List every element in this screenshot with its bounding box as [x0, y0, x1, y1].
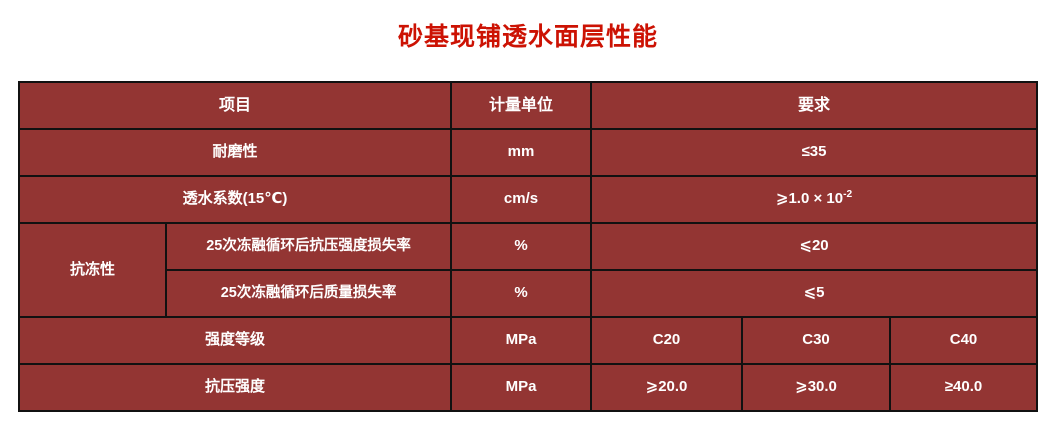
- table-row: 25次冻融循环后质量损失率 % ⩽5: [19, 270, 1037, 317]
- cell-compressive-strength-c40: ≥40.0: [890, 364, 1037, 411]
- table-row: 强度等级 MPa C20 C30 C40: [19, 317, 1037, 364]
- cell-requirement-frost-mass-loss: ⩽5: [591, 270, 1037, 317]
- page-root: 砂基现铺透水面层性能 项目 计量单位 要求 耐磨性: [0, 0, 1056, 435]
- table-header-row: 项目 计量单位 要求: [19, 82, 1037, 129]
- page-title: 砂基现铺透水面层性能: [0, 22, 1056, 52]
- header-cell-item: 项目: [19, 82, 451, 129]
- cell-requirement-frost-strength-loss: ⩽20: [591, 223, 1037, 270]
- cell-item-wear-resistance: 耐磨性: [19, 129, 451, 176]
- performance-table-container: 项目 计量单位 要求 耐磨性 mm ≤35 透水系数(15℃) cm/s ⩾1.…: [18, 81, 1036, 412]
- table-row: 抗压强度 MPa ⩾20.0 ⩾30.0 ≥40.0: [19, 364, 1037, 411]
- cell-strength-grade-c20: C20: [591, 317, 742, 364]
- cell-compressive-strength-c30: ⩾30.0: [742, 364, 890, 411]
- table-row: 耐磨性 mm ≤35: [19, 129, 1037, 176]
- cell-item-frost-resistance-group: 抗冻性: [19, 223, 166, 317]
- cell-requirement-wear-resistance: ≤35: [591, 129, 1037, 176]
- cell-unit-permeability-coefficient: cm/s: [451, 176, 591, 223]
- table-row: 透水系数(15℃) cm/s ⩾1.0 × 10-2: [19, 176, 1037, 223]
- cell-strength-grade-c40: C40: [890, 317, 1037, 364]
- cell-item-compressive-strength: 抗压强度: [19, 364, 451, 411]
- cell-unit-strength-grade: MPa: [451, 317, 591, 364]
- cell-compressive-strength-c20: ⩾20.0: [591, 364, 742, 411]
- cell-unit-frost-strength-loss: %: [451, 223, 591, 270]
- requirement-value-exponent: -2: [843, 189, 852, 200]
- cell-unit-wear-resistance: mm: [451, 129, 591, 176]
- requirement-value-base: ⩾1.0 × 10: [776, 190, 843, 207]
- cell-strength-grade-c30: C30: [742, 317, 890, 364]
- header-cell-unit: 计量单位: [451, 82, 591, 129]
- performance-table: 项目 计量单位 要求 耐磨性 mm ≤35 透水系数(15℃) cm/s ⩾1.…: [18, 81, 1038, 412]
- table-row: 抗冻性 25次冻融循环后抗压强度损失率 % ⩽20: [19, 223, 1037, 270]
- cell-item-frost-strength-loss: 25次冻融循环后抗压强度损失率: [166, 223, 451, 270]
- cell-unit-compressive-strength: MPa: [451, 364, 591, 411]
- cell-requirement-permeability-coefficient: ⩾1.0 × 10-2: [591, 176, 1037, 223]
- cell-unit-frost-mass-loss: %: [451, 270, 591, 317]
- cell-item-permeability-coefficient: 透水系数(15℃): [19, 176, 451, 223]
- cell-item-strength-grade: 强度等级: [19, 317, 451, 364]
- cell-item-frost-mass-loss: 25次冻融循环后质量损失率: [166, 270, 451, 317]
- header-cell-requirement: 要求: [591, 82, 1037, 129]
